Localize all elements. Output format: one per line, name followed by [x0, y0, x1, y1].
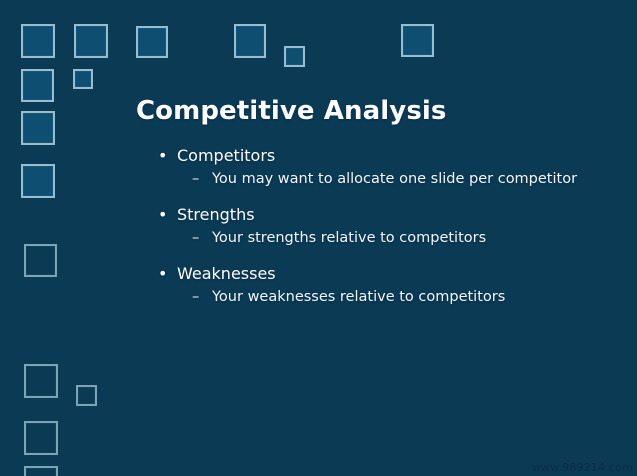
bullet-level2-label: Your weaknesses relative to competitors	[212, 289, 505, 305]
bullet-level2: – You may want to allocate one slide per…	[150, 170, 620, 189]
bullet-level1-label: Weaknesses	[177, 264, 276, 283]
bullet-dot-icon: •	[158, 264, 167, 285]
bullet-dot-icon: •	[158, 205, 167, 226]
bullet-level2: – Your weaknesses relative to competitor…	[150, 288, 620, 307]
bullet-level2-label: You may want to allocate one slide per c…	[212, 171, 577, 187]
bullet-level2-label: Your strengths relative to competitors	[212, 230, 486, 246]
slide-content: Competitive Analysis • Competitors – You…	[0, 0, 637, 476]
bullet-group: • Competitors – You may want to allocate…	[150, 146, 620, 189]
bullet-group: • Strengths – Your strengths relative to…	[150, 205, 620, 248]
bullet-group: • Weaknesses – Your weaknesses relative …	[150, 264, 620, 307]
bullet-dash-icon: –	[192, 170, 199, 189]
bullet-dash-icon: –	[192, 229, 199, 248]
bullet-dash-icon: –	[192, 288, 199, 307]
presentation-slide: Competitive Analysis • Competitors – You…	[0, 0, 637, 476]
bullet-level1: • Strengths	[150, 205, 620, 226]
bullet-level1-label: Strengths	[177, 205, 255, 224]
bullet-level1: • Weaknesses	[150, 264, 620, 285]
bullet-dot-icon: •	[158, 146, 167, 167]
bullet-level1: • Competitors	[150, 146, 620, 167]
bullet-level2: – Your strengths relative to competitors	[150, 229, 620, 248]
bullet-list: • Competitors – You may want to allocate…	[150, 146, 620, 307]
watermark: www.989214.com	[532, 461, 633, 474]
page-title: Competitive Analysis	[136, 96, 447, 126]
bullet-level1-label: Competitors	[177, 146, 275, 165]
